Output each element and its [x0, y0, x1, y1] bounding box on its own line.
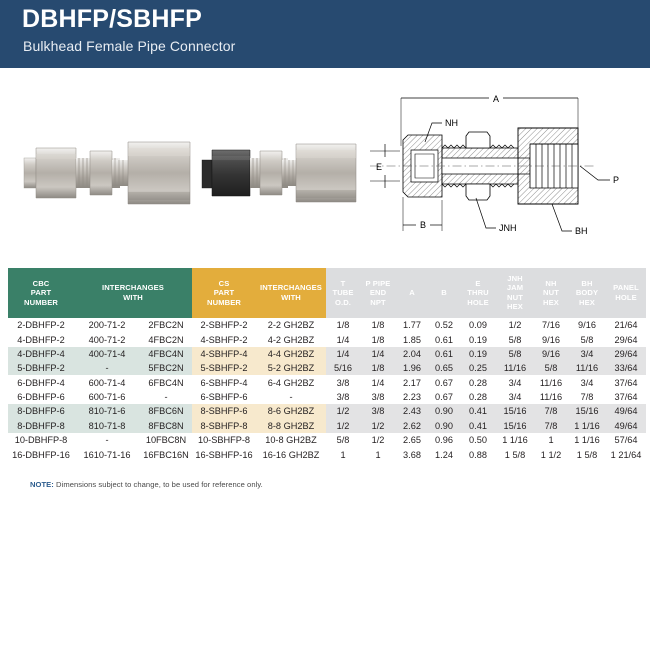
table-cell: 0.25: [460, 361, 496, 375]
col-header-jnh-jam-nut-hex: JNHJAMNUTHEX: [496, 268, 534, 318]
col-header-b: B: [428, 268, 460, 318]
table-cell: 0.41: [460, 404, 496, 418]
table-cell: 1: [534, 433, 568, 447]
footnote: NOTE: Dimensions subject to change, to b…: [30, 480, 263, 489]
title-banner: DBHFP/SBHFP Bulkhead Female Pipe Connect…: [0, 0, 650, 68]
table-cell: 37/64: [606, 390, 646, 404]
table-cell: 810-71-8: [74, 419, 140, 433]
product-photo-stainless: [22, 118, 194, 230]
table-cell: 1/8: [326, 318, 360, 332]
col-header-t-tube-od: TTUBEO.D.: [326, 268, 360, 318]
table-cell: 7/8: [534, 419, 568, 433]
table-cell: 6FBC4N: [140, 375, 192, 389]
col-header-e-thru-hole: ETHRUHOLE: [460, 268, 496, 318]
table-cell: 16FBC16N: [140, 447, 192, 461]
table-cell: 10-8 GH2BZ: [256, 433, 326, 447]
page-title: DBHFP/SBHFP: [22, 6, 202, 32]
table-cell: 37/64: [606, 375, 646, 389]
table-cell: 15/16: [496, 404, 534, 418]
col-header-nh-nut-hex: NHNUTHEX: [534, 268, 568, 318]
table-cell: 600-71-6: [74, 390, 140, 404]
col-header-panel-hole: PANELHOLE: [606, 268, 646, 318]
drawing-callout-P: P: [613, 175, 619, 185]
table-cell: 2.23: [396, 390, 428, 404]
table-cell: 5/8: [568, 332, 606, 346]
table-cell: 8FBC6N: [140, 404, 192, 418]
table-cell: 1/8: [360, 318, 396, 332]
table-cell: 8-6 GH2BZ: [256, 404, 326, 418]
table-cell: -: [256, 390, 326, 404]
table-cell: 6-DBHFP-6: [8, 390, 74, 404]
table-cell: 0.61: [428, 332, 460, 346]
table-cell: 1/2: [496, 318, 534, 332]
table-cell: 9/16: [568, 318, 606, 332]
table-cell: 2.62: [396, 419, 428, 433]
table-cell: 1 1/16: [496, 433, 534, 447]
table-row: 4-DBHFP-2400-71-24FBC2N4-SBHFP-24-2 GH2B…: [8, 332, 646, 346]
table-cell: 10-DBHFP-8: [8, 433, 74, 447]
table-cell: 7/8: [568, 390, 606, 404]
table-cell: 400-71-2: [74, 332, 140, 346]
table-cell: 0.28: [460, 390, 496, 404]
table-cell: 1.96: [396, 361, 428, 375]
table-cell: 1610-71-16: [74, 447, 140, 461]
table-cell: 3/8: [326, 390, 360, 404]
table-cell: 2FBC2N: [140, 318, 192, 332]
table-cell: 1.85: [396, 332, 428, 346]
product-photo-black-nut: [200, 118, 360, 230]
page-subtitle: Bulkhead Female Pipe Connector: [23, 38, 235, 54]
table-cell: -: [74, 433, 140, 447]
table-cell: 4-2 GH2BZ: [256, 332, 326, 346]
table-cell: 400-71-4: [74, 347, 140, 361]
table-cell: 57/64: [606, 433, 646, 447]
engineering-drawing: A: [370, 86, 648, 246]
table-cell: 4-DBHFP-2: [8, 332, 74, 346]
table-cell: 0.41: [460, 419, 496, 433]
table-row: 8-DBHFP-6810-71-68FBC6N8-SBHFP-68-6 GH2B…: [8, 404, 646, 418]
table-cell: 9/16: [534, 347, 568, 361]
table-cell: 1/2: [326, 419, 360, 433]
table-cell: 15/16: [568, 404, 606, 418]
table-cell: 2.43: [396, 404, 428, 418]
footnote-text: Dimensions subject to change, to be used…: [56, 480, 263, 489]
table-cell: 810-71-6: [74, 404, 140, 418]
table-cell: 1/8: [360, 332, 396, 346]
table-cell: 8-DBHFP-8: [8, 419, 74, 433]
table-cell: 16-SBHFP-16: [192, 447, 256, 461]
table-cell: 4-SBHFP-2: [192, 332, 256, 346]
table-row: 6-DBHFP-4600-71-46FBC4N6-SBHFP-46-4 GH2B…: [8, 375, 646, 389]
table-cell: 6-DBHFP-4: [8, 375, 74, 389]
table-cell: 1.24: [428, 447, 460, 461]
drawing-callout-A: A: [493, 94, 499, 104]
col-header-cs-interchanges-with: INTERCHANGESWITH: [256, 268, 326, 318]
col-header-a: A: [396, 268, 428, 318]
table-cell: 0.50: [460, 433, 496, 447]
table-body: 2-DBHFP-2200-71-22FBC2N2-SBHFP-22-2 GH2B…: [8, 318, 646, 462]
table-cell: 3/8: [360, 390, 396, 404]
drawing-callout-E: E: [376, 162, 382, 172]
table-cell: 1/2: [326, 404, 360, 418]
table-cell: 5/16: [326, 361, 360, 375]
table-row: 2-DBHFP-2200-71-22FBC2N2-SBHFP-22-2 GH2B…: [8, 318, 646, 332]
table-cell: 8-SBHFP-8: [192, 419, 256, 433]
table-cell: 7/16: [534, 318, 568, 332]
table-cell: 3/4: [568, 347, 606, 361]
table-cell: 0.09: [460, 318, 496, 332]
table-cell: 1/8: [360, 361, 396, 375]
table-cell: 1 1/2: [534, 447, 568, 461]
table-cell: 5-SBHFP-2: [192, 361, 256, 375]
table-cell: 11/16: [568, 361, 606, 375]
table-cell: 0.28: [460, 375, 496, 389]
table-cell: 3/8: [326, 375, 360, 389]
table-cell: 29/64: [606, 347, 646, 361]
col-header-cs-part-number: CSPARTNUMBER: [192, 268, 256, 318]
table-cell: 29/64: [606, 332, 646, 346]
drawing-callout-B: B: [420, 220, 426, 230]
table-cell: 4FBC4N: [140, 347, 192, 361]
specification-table-wrap: CBCPARTNUMBER INTERCHANGESWITH CSPARTNUM…: [8, 268, 642, 462]
table-cell: 49/64: [606, 419, 646, 433]
table-cell: 0.65: [428, 361, 460, 375]
table-cell: 1/4: [360, 347, 396, 361]
table-cell: 6-SBHFP-6: [192, 390, 256, 404]
table-cell: 0.90: [428, 404, 460, 418]
table-row: 10-DBHFP-8-10FBC8N10-SBHFP-810-8 GH2BZ5/…: [8, 433, 646, 447]
drawing-callout-JNH: JNH: [499, 223, 517, 233]
table-cell: 2.65: [396, 433, 428, 447]
table-cell: 0.96: [428, 433, 460, 447]
table-cell: 3/8: [360, 404, 396, 418]
table-cell: 16-DBHFP-16: [8, 447, 74, 461]
table-cell: 21/64: [606, 318, 646, 332]
table-cell: 8-DBHFP-6: [8, 404, 74, 418]
table-row: 6-DBHFP-6600-71-6-6-SBHFP-6-3/83/82.230.…: [8, 390, 646, 404]
table-cell: 33/64: [606, 361, 646, 375]
table-cell: 5/8: [496, 347, 534, 361]
table-cell: 1/4: [360, 375, 396, 389]
table-cell: 5-2 GH2BZ: [256, 361, 326, 375]
table-cell: 0.90: [428, 419, 460, 433]
table-row: 16-DBHFP-161610-71-1616FBC16N16-SBHFP-16…: [8, 447, 646, 461]
table-cell: 1/2: [360, 419, 396, 433]
table-cell: 5/8: [326, 433, 360, 447]
table-cell: 1 1/16: [568, 419, 606, 433]
drawing-callout-BH: BH: [575, 226, 588, 236]
table-cell: 1.77: [396, 318, 428, 332]
table-cell: 1 1/16: [568, 433, 606, 447]
table-cell: 8-8 GH2BZ: [256, 419, 326, 433]
table-cell: 3/4: [568, 375, 606, 389]
table-cell: 49/64: [606, 404, 646, 418]
table-cell: 0.88: [460, 447, 496, 461]
col-header-bh-body-hex: BHBODYHEX: [568, 268, 606, 318]
table-cell: 4-DBHFP-4: [8, 347, 74, 361]
table-cell: 0.61: [428, 347, 460, 361]
table-cell: 3/4: [496, 375, 534, 389]
col-header-p-pipe-end-npt: P PIPEENDNPT: [360, 268, 396, 318]
table-cell: 2.17: [396, 375, 428, 389]
table-cell: 2-SBHFP-2: [192, 318, 256, 332]
table-header-row: CBCPARTNUMBER INTERCHANGESWITH CSPARTNUM…: [8, 268, 646, 318]
table-cell: 1 21/64: [606, 447, 646, 461]
table-cell: 3/4: [496, 390, 534, 404]
table-cell: 1/2: [360, 433, 396, 447]
table-cell: 5/8: [496, 332, 534, 346]
table-header: CBCPARTNUMBER INTERCHANGESWITH CSPARTNUM…: [8, 268, 646, 318]
footnote-label: NOTE:: [30, 480, 54, 489]
table-cell: 1/4: [326, 332, 360, 346]
table-cell: 4-4 GH2BZ: [256, 347, 326, 361]
table-cell: 200-71-2: [74, 318, 140, 332]
table-cell: -: [140, 390, 192, 404]
col-header-cbc-part-number: CBCPARTNUMBER: [8, 268, 74, 318]
table-row: 4-DBHFP-4400-71-44FBC4N4-SBHFP-44-4 GH2B…: [8, 347, 646, 361]
table-cell: 0.52: [428, 318, 460, 332]
table-cell: 0.19: [460, 332, 496, 346]
table-cell: 1: [326, 447, 360, 461]
col-header-cbc-interchanges-with: INTERCHANGESWITH: [74, 268, 192, 318]
table-cell: 600-71-4: [74, 375, 140, 389]
table-cell: 6-SBHFP-4: [192, 375, 256, 389]
table-row: 8-DBHFP-8810-71-88FBC8N8-SBHFP-88-8 GH2B…: [8, 419, 646, 433]
drawing-callout-NH: NH: [445, 118, 458, 128]
datasheet-page: DBHFP/SBHFP Bulkhead Female Pipe Connect…: [0, 0, 650, 650]
table-cell: 1 5/8: [568, 447, 606, 461]
table-cell: 2.04: [396, 347, 428, 361]
table-cell: 1 5/8: [496, 447, 534, 461]
table-cell: 11/16: [534, 375, 568, 389]
table-cell: 7/8: [534, 404, 568, 418]
table-cell: 16-16 GH2BZ: [256, 447, 326, 461]
table-cell: 10-SBHFP-8: [192, 433, 256, 447]
table-cell: 5/8: [534, 361, 568, 375]
table-cell: 2-2 GH2BZ: [256, 318, 326, 332]
table-cell: 11/16: [496, 361, 534, 375]
table-cell: 1: [360, 447, 396, 461]
table-cell: 2-DBHFP-2: [8, 318, 74, 332]
table-cell: 5FBC2N: [140, 361, 192, 375]
table-cell: 4-SBHFP-4: [192, 347, 256, 361]
table-cell: -: [74, 361, 140, 375]
table-row: 5-DBHFP-2-5FBC2N5-SBHFP-25-2 GH2BZ5/161/…: [8, 361, 646, 375]
table-cell: 0.67: [428, 375, 460, 389]
table-cell: 10FBC8N: [140, 433, 192, 447]
table-cell: 11/16: [534, 390, 568, 404]
table-cell: 9/16: [534, 332, 568, 346]
table-cell: 5-DBHFP-2: [8, 361, 74, 375]
table-cell: 4FBC2N: [140, 332, 192, 346]
table-cell: 0.67: [428, 390, 460, 404]
table-cell: 0.19: [460, 347, 496, 361]
table-cell: 15/16: [496, 419, 534, 433]
table-cell: 6-4 GH2BZ: [256, 375, 326, 389]
table-cell: 8-SBHFP-6: [192, 404, 256, 418]
specification-table: CBCPARTNUMBER INTERCHANGESWITH CSPARTNUM…: [8, 268, 646, 462]
table-cell: 3.68: [396, 447, 428, 461]
table-cell: 8FBC8N: [140, 419, 192, 433]
table-cell: 1/4: [326, 347, 360, 361]
